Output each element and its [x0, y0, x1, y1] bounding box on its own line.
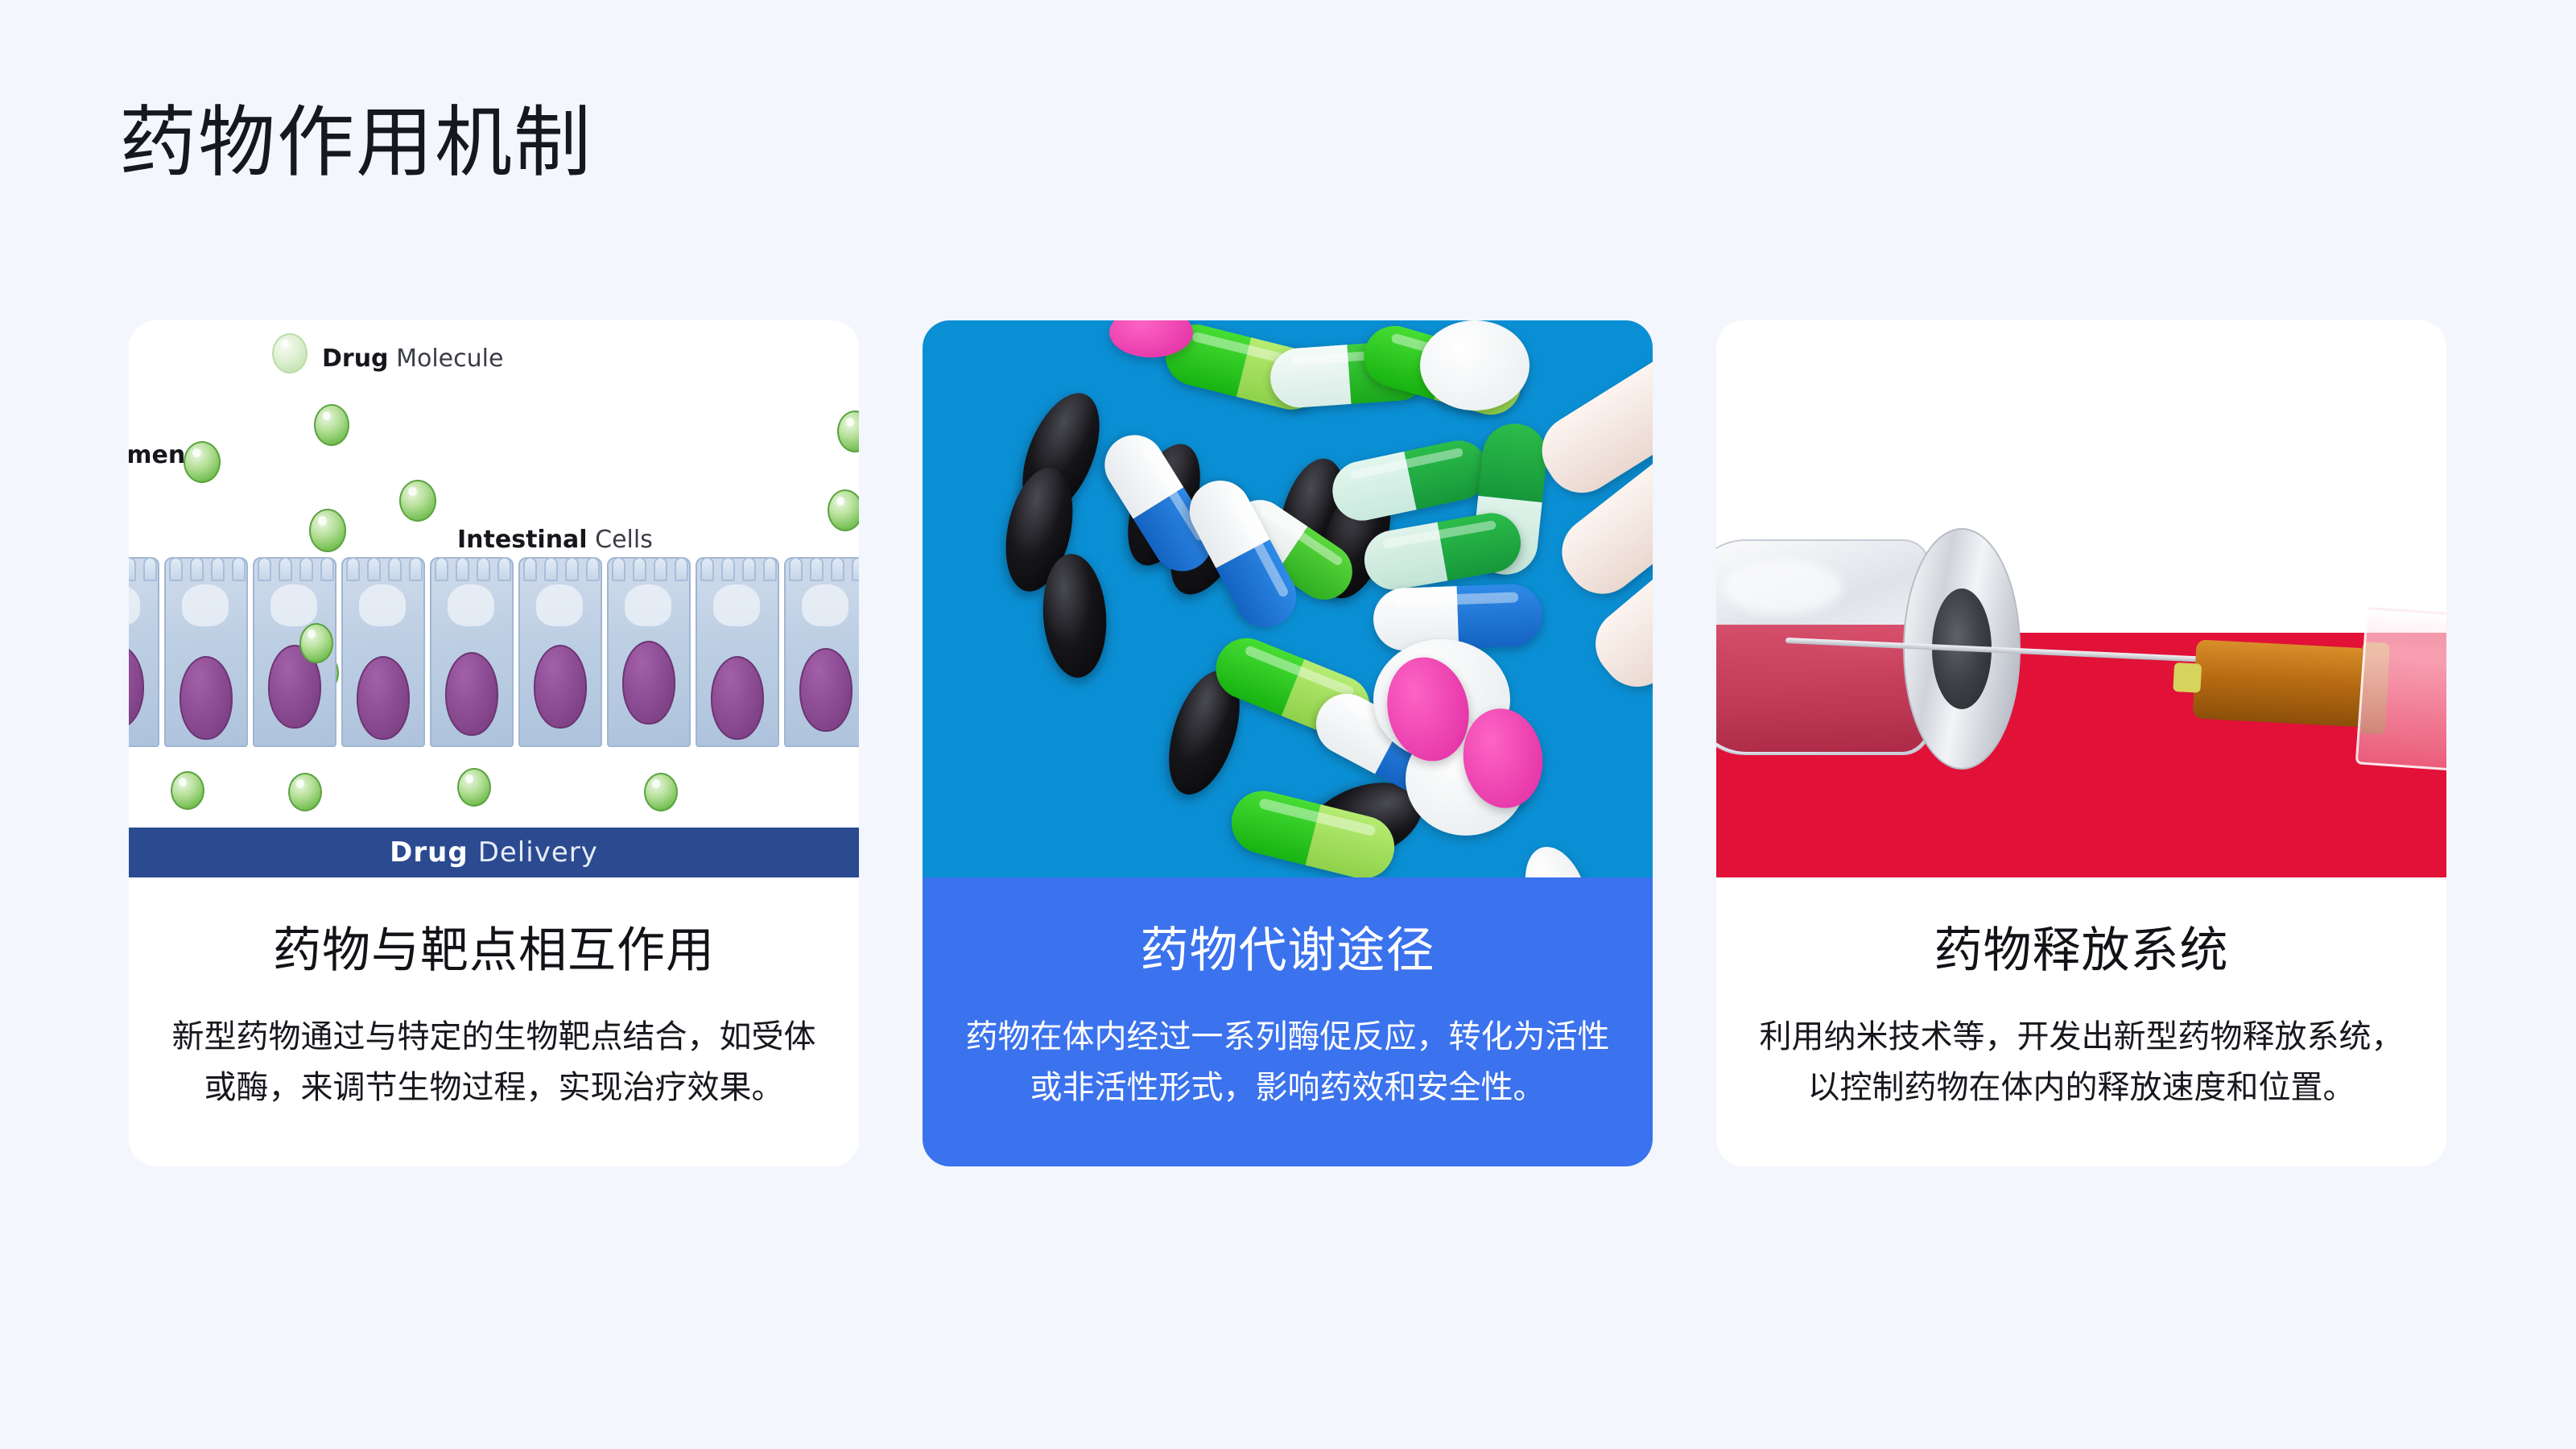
card-grid: Drug Molecule e Lumen Intestinal Cells [129, 320, 2447, 1166]
drug-molecule-icon [288, 773, 322, 811]
drug-molecule-icon [299, 623, 333, 663]
card-drug-release-system[interactable]: 药物释放系统 利用纳米技术等，开发出新型药物释放系统，以控制药物在体内的释放速度… [1716, 320, 2446, 1166]
drug-delivery-banner: Drug Delivery [129, 828, 859, 877]
card-body: 药物与靶点相互作用 新型药物通过与特定的生物靶点结合，如受体或酶，来调节生物过程… [129, 877, 859, 1166]
card-drug-metabolism-pathway[interactable]: 药物代谢途径 药物在体内经过一系列酶促反应，转化为活性或非活性形式，影响药效和安… [923, 320, 1653, 1166]
card-description: 利用纳米技术等，开发出新型药物释放系统，以控制药物在体内的释放速度和位置。 [1753, 1012, 2409, 1113]
drug-molecule-icon [171, 771, 204, 810]
pills-photo [923, 320, 1653, 877]
card-title: 药物代谢途径 [960, 923, 1616, 978]
intestinal-epithelium-illustration: Drug Molecule e Lumen Intestinal Cells [129, 320, 859, 877]
slide-root: 药物作用机制 Drug Molecule e Lumen Intesti [0, 0, 2576, 1449]
drug-molecule-icon [457, 768, 491, 807]
syringe-vial-render [1716, 320, 2446, 877]
syringe-barrel-icon [2355, 607, 2446, 788]
card-drug-target-interaction[interactable]: Drug Molecule e Lumen Intestinal Cells [129, 320, 859, 1166]
page-title: 药物作用机制 [119, 105, 592, 182]
tablet-icon [1420, 320, 1529, 411]
drug-molecule-icon [272, 333, 308, 374]
needle-hub-icon [2193, 639, 2372, 727]
card-title: 药物与靶点相互作用 [166, 923, 822, 978]
card-media-illustration: Drug Molecule e Lumen Intestinal Cells [129, 320, 859, 877]
tablet-icon [1514, 839, 1600, 877]
card-body: 药物释放系统 利用纳米技术等，开发出新型药物释放系统，以控制药物在体内的释放速度… [1716, 877, 2446, 1166]
card-description: 药物在体内经过一系列酶促反应，转化为活性或非活性形式，影响药效和安全性。 [960, 1012, 1616, 1113]
intestinal-cell-row [129, 536, 859, 747]
drug-molecule-icon [828, 489, 859, 531]
capsule-icon [1327, 435, 1493, 526]
softgel-icon [1039, 551, 1111, 679]
drug-molecule-icon [644, 773, 678, 811]
card-body: 药物代谢途径 药物在体内经过一系列酶促反应，转化为活性或非活性形式，影响药效和安… [923, 877, 1653, 1166]
card-media-render [1716, 320, 2446, 877]
drug-molecule-icon [837, 411, 859, 452]
label-drug-molecule: Drug Molecule [322, 345, 503, 373]
card-title: 药物释放系统 [1753, 923, 2409, 978]
drug-molecule-icon [184, 441, 221, 483]
drug-molecule-icon [314, 404, 349, 446]
drug-molecule-icon [399, 480, 436, 522]
card-description: 新型药物通过与特定的生物靶点结合，如受体或酶，来调节生物过程，实现治疗效果。 [166, 1012, 822, 1113]
label-lumen: e Lumen [129, 441, 185, 469]
card-media-photo [923, 320, 1653, 877]
